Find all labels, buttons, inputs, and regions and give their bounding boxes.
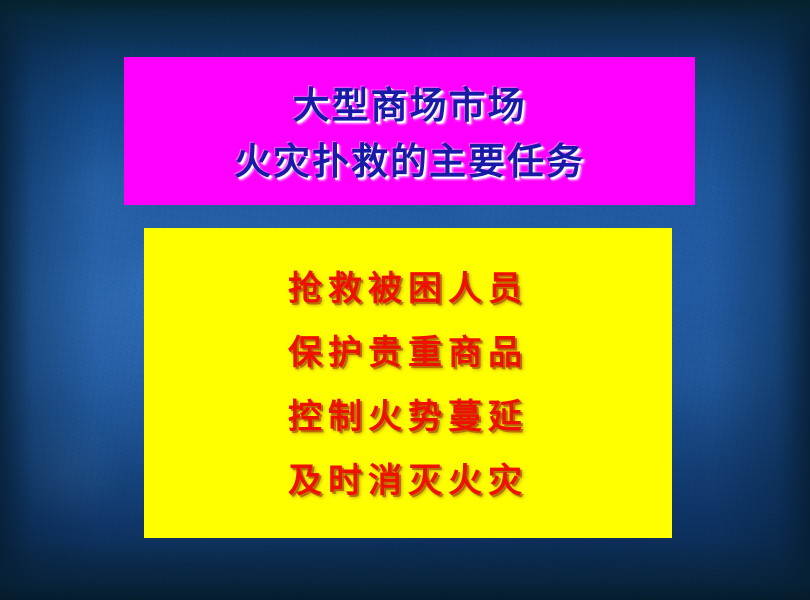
title-line-1: 大型商场市场 [293,86,527,126]
content-line-1: 抢救被困人员 [288,272,528,306]
title-line-2: 火灾扑救的主要任务 [234,142,585,182]
content-panel: 抢救被困人员 保护贵重商品 控制火势蔓延 及时消灭火灾 [144,228,672,538]
content-line-4: 及时消灭火灾 [288,464,528,498]
presentation-slide: 大型商场市场 火灾扑救的主要任务 抢救被困人员 保护贵重商品 控制火势蔓延 及时… [0,0,810,600]
content-line-3: 控制火势蔓延 [288,400,528,434]
title-panel: 大型商场市场 火灾扑救的主要任务 [124,57,695,205]
content-line-2: 保护贵重商品 [288,336,528,370]
